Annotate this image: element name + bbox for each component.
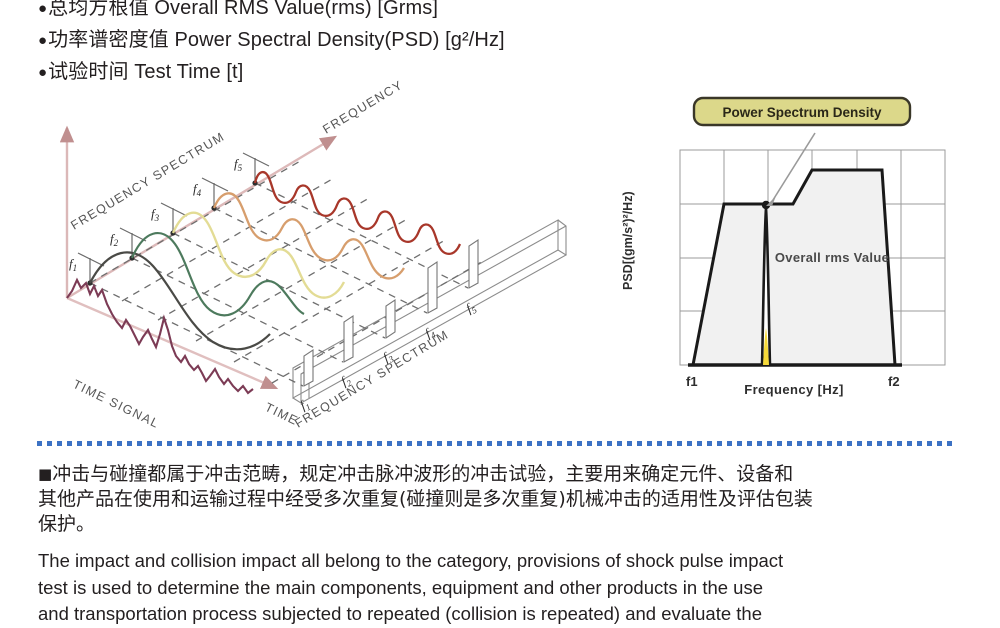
bullet-label-cn: 总均方根值 bbox=[48, 0, 149, 19]
psd-chart-figure: Power Spectrum Density Overall rms Value… bbox=[610, 90, 958, 430]
psd-xtick-f1: f1 bbox=[686, 374, 698, 389]
spectrum-bar-f1 bbox=[304, 350, 313, 386]
bullet-label-cn: 试验时间 bbox=[48, 59, 128, 83]
spectrum-bar-f3 bbox=[386, 300, 395, 338]
bullet-label-cn: 功率谱密度值 bbox=[48, 27, 169, 51]
spectrum-bar-f4 bbox=[428, 262, 437, 313]
body-en-line-1: The impact and collision impact all belo… bbox=[38, 548, 943, 575]
overall-rms-label: Overall rms Value bbox=[775, 250, 889, 265]
body-en-line-3: and transportation process subjected to … bbox=[38, 601, 943, 628]
time-signal-wave bbox=[67, 280, 253, 393]
body-cn-line-2: 其他产品在使用和运输过程中经受多次重复(碰撞则是多次重复)机械冲击的适用性及评估… bbox=[38, 488, 813, 510]
wave-label-f4: f4 bbox=[193, 181, 202, 198]
spec-bullet-list: ●总均方根值 Overall RMS Value(rms) [Grms] ●功率… bbox=[38, 0, 958, 88]
body-cn-line-1: 冲击与碰撞都属于冲击范畴，规定冲击脉冲波形的冲击试验，主要用来确定元件、设备和 bbox=[52, 463, 793, 485]
bullet-dot-icon: ● bbox=[38, 32, 47, 49]
spectrum-bar-f2 bbox=[344, 316, 353, 362]
bullet-label-en: Power Spectral Density(PSD) [g²/Hz] bbox=[174, 29, 504, 51]
wave-label-f1: f1 bbox=[69, 256, 77, 273]
square-bullet-icon: ■ bbox=[38, 465, 52, 483]
wave-label-f5: f5 bbox=[234, 156, 243, 173]
psd-callout-badge: Power Spectrum Density bbox=[694, 98, 910, 125]
body-paragraph-cn: ■冲击与碰撞都属于冲击范畴，规定冲击脉冲波形的冲击试验，主要用来确定元件、设备和… bbox=[38, 462, 943, 537]
axis-label-time-signal: TIME SIGNAL bbox=[71, 377, 162, 431]
psd-x-axis-label: Frequency [Hz] bbox=[744, 382, 844, 397]
wave-label-f2: f2 bbox=[110, 231, 119, 248]
bullet-item: ●总均方根值 Overall RMS Value(rms) [Grms] bbox=[38, 0, 958, 24]
body-en-line-2: test is used to determine the main compo… bbox=[38, 575, 943, 602]
wave-label-f3: f3 bbox=[151, 206, 160, 223]
frequency-axis bbox=[67, 137, 335, 298]
bullet-label-en: Test Time [t] bbox=[134, 61, 243, 83]
bullet-item: ●试验时间 Test Time [t] bbox=[38, 56, 958, 88]
body-paragraph-en: The impact and collision impact all belo… bbox=[38, 548, 943, 628]
page-root: ●总均方根值 Overall RMS Value(rms) [Grms] ●功率… bbox=[0, 0, 1000, 623]
bullet-item: ●功率谱密度值 Power Spectral Density(PSD) [g²/… bbox=[38, 24, 958, 56]
floor-label-f5: f5 bbox=[463, 298, 479, 317]
wave-f4 bbox=[214, 193, 404, 278]
waterfall-figure: f1 f2 f3 f4 f5 f1 f2 f3 f4 f5 TIME SIGNA… bbox=[38, 98, 598, 428]
bullet-dot-icon: ● bbox=[38, 0, 47, 17]
axis-label-frequency-spectrum-floor: FREQUENCY SPECTRUM bbox=[292, 327, 451, 430]
psd-y-axis-label: PSD[(gm/s²)²/Hz) bbox=[621, 191, 635, 290]
psd-xtick-f2: f2 bbox=[888, 374, 900, 389]
figure-band: f1 f2 f3 f4 f5 f1 f2 f3 f4 f5 TIME SIGNA… bbox=[38, 98, 958, 428]
psd-callout-label: Power Spectrum Density bbox=[722, 105, 882, 120]
bullet-dot-icon: ● bbox=[38, 64, 47, 81]
bullet-label-en: Overall RMS Value(rms) [Grms] bbox=[154, 0, 438, 19]
dotted-divider bbox=[37, 441, 955, 446]
body-cn-line-3: 保护。 bbox=[38, 513, 95, 535]
spectrum-bar-f5 bbox=[469, 240, 478, 288]
psd-area bbox=[688, 170, 902, 365]
